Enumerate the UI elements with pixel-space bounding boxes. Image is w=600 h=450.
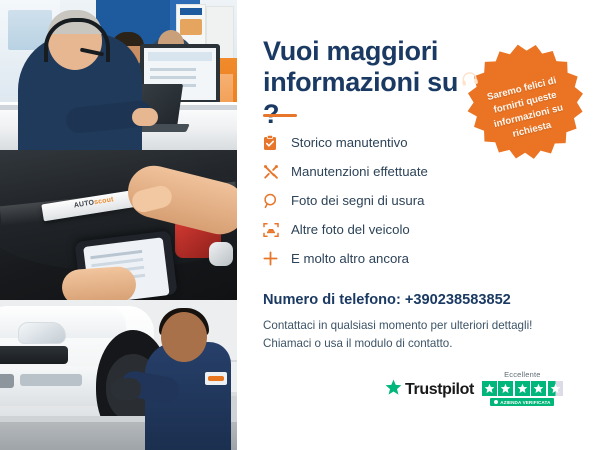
uniform-logo [205, 372, 227, 385]
contact-line-1: Contattaci in qualsiasi momento per ulte… [263, 319, 532, 332]
star-filled [498, 381, 513, 396]
mechanic-head [161, 312, 207, 362]
list-item-label: Altre foto del veicolo [291, 222, 410, 237]
verified-check-icon [494, 400, 498, 404]
tools-cross-icon [263, 164, 291, 180]
plus-icon [263, 251, 291, 266]
verified-label: AZIENDA VERIFICATA [500, 400, 550, 405]
mechanic-wheel-check-photo [0, 300, 237, 450]
trustpilot-logo: Trustpilot [385, 370, 474, 401]
star-half [548, 381, 563, 396]
car-scan-icon [263, 222, 291, 238]
clipboard-check-icon [263, 135, 291, 151]
feature-list: Storico manutentivo Manutenzioni effettu… [263, 128, 493, 273]
star-filled [515, 381, 530, 396]
car-headlight [18, 322, 66, 344]
car-lower-grille [20, 374, 82, 386]
trustpilot-star-icon [385, 379, 402, 401]
list-item-label: Manutenzioni effettuate [291, 164, 428, 179]
rating-label: Eccellente [504, 370, 541, 379]
photo-column: AUTOscout [0, 0, 237, 450]
star-rating [482, 381, 563, 396]
list-item-label: E molto altro ancora [291, 251, 409, 266]
contact-line-2: Chiamaci o usa il modulo di contatto. [263, 337, 452, 350]
verified-company-badge: AZIENDA VERIFICATA [490, 398, 554, 406]
list-item-label: Storico manutentivo [291, 135, 408, 150]
trustpilot-widget[interactable]: Trustpilot Eccellente [385, 370, 563, 406]
phone-number[interactable]: Numero di telefono: +390238583852 [263, 292, 511, 308]
list-item: Altre foto del veicolo [263, 215, 493, 244]
list-item: E molto altro ancora [263, 244, 493, 273]
content-panel: Vuoi maggiori informazioni su ? Saremo f… [237, 0, 600, 450]
list-item-label: Foto dei segni di usura [291, 193, 424, 208]
star-filled [482, 381, 497, 396]
trustpilot-wordmark: Trustpilot [405, 381, 474, 399]
call-center-agents-photo [0, 0, 237, 150]
list-item: Manutenzioni effettuate [263, 157, 493, 186]
list-item: Foto dei segni di usura [263, 186, 493, 215]
advertisement-banner: AUTOscout Vuoi [0, 0, 600, 450]
list-item: Storico manutentivo [263, 128, 493, 157]
tail-light-clear [209, 242, 233, 266]
title-underline-rule [263, 114, 297, 117]
agent-hand [132, 108, 158, 126]
car-grille [0, 346, 68, 364]
star-filled [531, 381, 546, 396]
car-fog-light [0, 374, 14, 388]
mechanic-glove [111, 378, 141, 400]
vehicle-damage-inspection-photo: AUTOscout [0, 150, 237, 300]
trustpilot-rating-block: Eccellente [482, 370, 563, 406]
magnifier-icon [263, 193, 291, 209]
inspector-hand-holding-tablet [61, 265, 137, 300]
